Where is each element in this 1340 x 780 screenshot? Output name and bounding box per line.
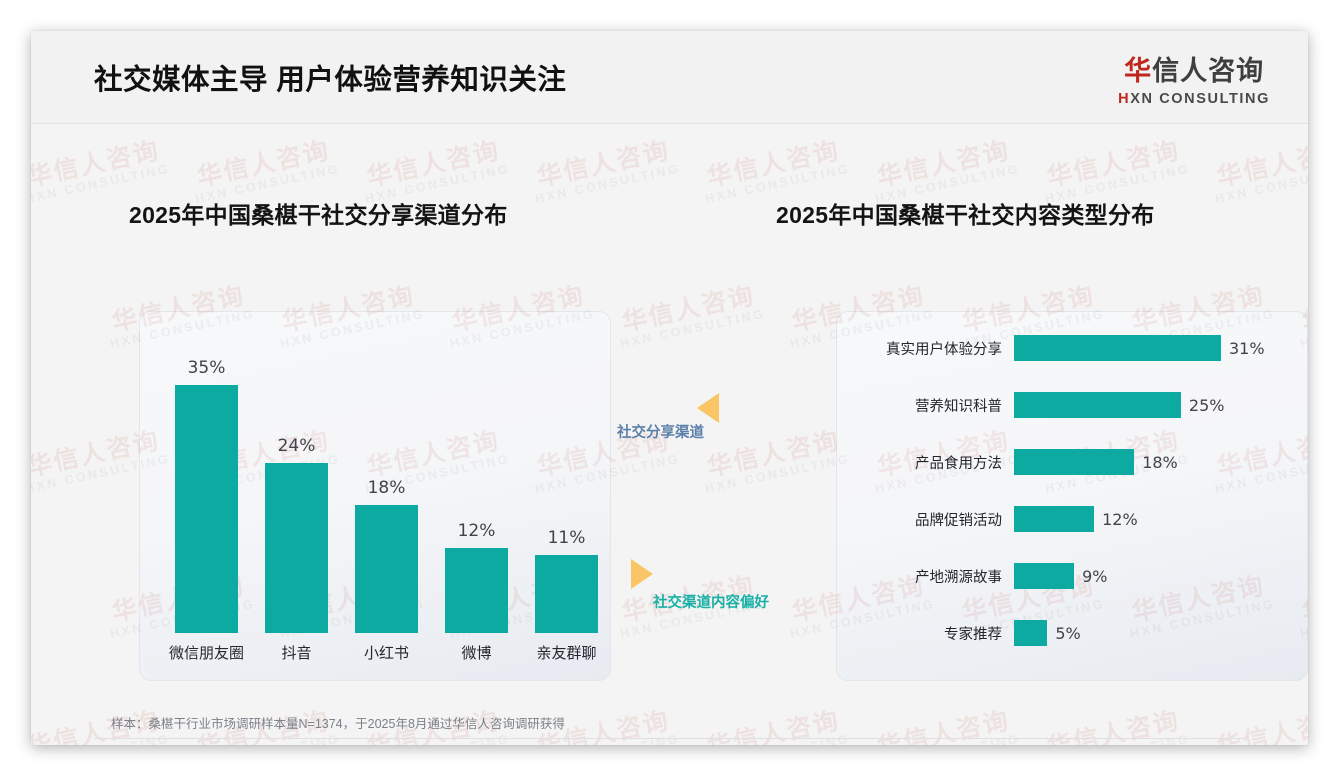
watermark-en: HXN CONSULTING [619,308,766,352]
bar-rect [175,385,238,633]
bar-rect [1014,449,1134,475]
bar-value-label: 12% [1102,510,1138,529]
watermark-tile: 华信人咨询HXN CONSULTING [613,281,766,351]
watermark-cn: 华信人咨询 [1208,136,1308,192]
slide-header: 社交媒体主导 用户体验营养知识关注 华信人咨询 HXN CONSULTING [31,31,1308,124]
bar-value-label: 18% [355,478,418,498]
bar-rect [445,548,508,633]
watermark-cn: 华信人咨询 [698,136,848,192]
bar-value-label: 31% [1229,339,1265,358]
bar-rect [1014,392,1181,418]
sample-footnote: 样本：桑椹干行业市场调研样本量N=1374，于2025年8月通过华信人咨询调研获… [111,713,565,732]
bar-group: 35%微信朋友圈 [175,385,238,633]
bar-rect [265,463,328,633]
bar-row: 产品食用方法18% [836,449,1306,475]
bar-row: 专家推荐5% [836,620,1306,646]
bar-value-label: 24% [265,436,328,456]
bar-value-label: 11% [535,528,598,548]
bar-row: 营养知识科普25% [836,392,1306,418]
bar-value-label: 25% [1189,396,1225,415]
bar-row: 品牌促销活动12% [836,506,1306,532]
slide-canvas: 华信人咨询HXN CONSULTING华信人咨询HXN CONSULTING华信… [31,31,1308,745]
triangle-left-icon [697,393,719,423]
watermark-cn: 华信人咨询 [613,281,763,337]
bar-rect [1014,620,1047,646]
bar-category-label: 产地溯源故事 [836,566,1014,587]
bar-group: 24%抖音 [265,463,328,633]
bar-category-label: 营养知识科普 [836,395,1014,416]
bar-category-label: 微博 [429,642,524,663]
bar-category-label: 抖音 [249,642,344,663]
bar-rect [1014,335,1221,361]
watermark-cn: 华信人咨询 [698,426,848,482]
bar-group: 12%微博 [445,548,508,633]
watermark-tile: 华信人咨询HXN CONSULTING [528,136,681,206]
bar-value-label: 9% [1082,567,1107,586]
watermark-tile: 华信人咨询HXN CONSULTING [868,706,1021,745]
watermark-tile: 华信人咨询HXN CONSULTING [698,706,851,745]
bar-rect [1014,506,1094,532]
bar-value-label: 12% [445,521,508,541]
watermark-tile: 华信人咨询HXN CONSULTING [1208,136,1308,206]
annotation-content-preference-label: 社交渠道内容偏好 [653,591,769,612]
right-chart-title: 2025年中国桑椹干社交内容类型分布 [776,196,1155,230]
footer-divider [94,738,1244,739]
watermark-en: HXN CONSULTING [534,163,681,207]
bar-category-label: 专家推荐 [836,623,1014,644]
watermark-tile: 华信人咨询HXN CONSULTING [1038,706,1191,745]
brand-logo-en-accent: H [1118,91,1130,107]
bar-rect [1014,563,1074,589]
brand-logo-en-rest: XN CONSULTING [1130,91,1270,107]
left-chart-title: 2025年中国桑椹干社交分享渠道分布 [129,196,508,230]
watermark-cn: 华信人咨询 [698,706,848,745]
bar-category-label: 真实用户体验分享 [836,338,1014,359]
watermark-cn: 华信人咨询 [868,706,1018,745]
bar-category-label: 小红书 [339,642,434,663]
watermark-cn: 华信人咨询 [868,136,1018,192]
bar-category-label: 产品食用方法 [836,452,1014,473]
bar-group: 11%亲友群聊 [535,555,598,633]
watermark-cn: 华信人咨询 [1038,136,1188,192]
brand-logo-cn: 华信人咨询 [1118,58,1270,85]
brand-logo-cn-accent: 华 [1124,56,1152,86]
bar-category-label: 亲友群聊 [519,642,614,663]
page-title: 社交媒体主导 用户体验营养知识关注 [94,57,566,98]
brand-logo-cn-rest: 信人咨询 [1152,56,1264,86]
watermark-cn: 华信人咨询 [1208,706,1308,745]
watermark-en: HXN CONSULTING [704,453,851,497]
bar-value-label: 5% [1055,624,1080,643]
vertical-bar-chart: 35%微信朋友圈24%抖音18%小红书12%微博11%亲友群聊 [139,311,609,679]
bar-category-label: 品牌促销活动 [836,509,1014,530]
watermark-cn: 华信人咨询 [1038,706,1188,745]
watermark-cn: 华信人咨询 [358,136,508,192]
annotation-share-channel-label: 社交分享渠道 [617,421,704,442]
watermark-tile: 华信人咨询HXN CONSULTING [1208,706,1308,745]
bar-value-label: 35% [175,358,238,378]
watermark-tile: 华信人咨询HXN CONSULTING [698,426,851,496]
bar-category-label: 微信朋友圈 [159,642,254,663]
watermark-cn: 华信人咨询 [188,136,338,192]
bar-rect [355,505,418,633]
horizontal-bar-chart: 真实用户体验分享31%营养知识科普25%产品食用方法18%品牌促销活动12%产地… [836,311,1306,679]
brand-logo-en: HXN CONSULTING [1118,92,1270,107]
bar-value-label: 18% [1142,453,1178,472]
bar-row: 真实用户体验分享31% [836,335,1306,361]
bar-row: 产地溯源故事9% [836,563,1306,589]
watermark-en: HXN CONSULTING [1214,163,1308,207]
triangle-right-icon [631,559,653,589]
bar-group: 18%小红书 [355,505,418,633]
watermark-cn: 华信人咨询 [528,136,678,192]
brand-logo: 华信人咨询 HXN CONSULTING [1118,58,1270,107]
watermark-cn: 华信人咨询 [31,136,169,192]
bar-rect [535,555,598,633]
